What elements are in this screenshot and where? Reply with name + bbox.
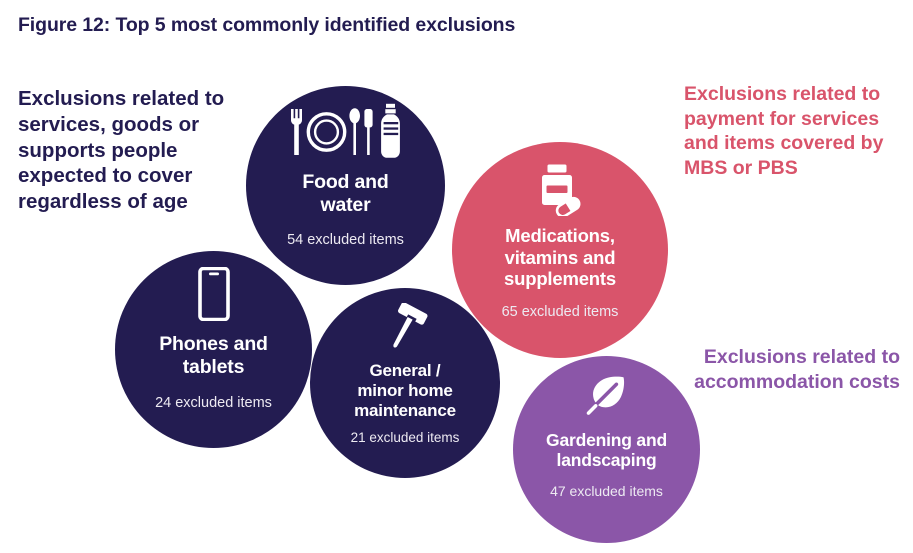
bubble-count: 24 excluded items <box>155 396 272 412</box>
annotation-services-goods-supports: Exclusions related to services, goods or… <box>18 86 250 215</box>
bubble-phones-and-tablets[interactable]: Phones and tablets 24 excluded items <box>115 251 312 448</box>
food-and-water-icon <box>288 103 404 159</box>
bubble-count: 54 excluded items <box>287 233 404 249</box>
bubble-general-minor-home-maintenance[interactable]: General / minor home maintenance 21 excl… <box>310 288 500 478</box>
pill-bottle-icon <box>535 164 585 216</box>
hammer-icon <box>380 303 430 353</box>
bubble-count: 21 excluded items <box>351 431 460 446</box>
page-title: Figure 12: Top 5 most commonly identifie… <box>18 14 718 37</box>
bubble-label-line: water <box>302 194 388 217</box>
bubble-label-line: supplements <box>504 268 616 290</box>
bubble-label-line: minor home <box>354 381 456 401</box>
bubble-label: Food and water <box>302 171 388 217</box>
annotation-accommodation-costs: Exclusions related to accommodation cost… <box>678 345 900 394</box>
bubble-label: Phones and tablets <box>159 333 268 379</box>
bubble-label-line: landscaping <box>546 450 667 470</box>
figure-canvas: Figure 12: Top 5 most commonly identifie… <box>0 0 913 553</box>
bubble-label-line: Food and <box>302 171 388 194</box>
bubble-food-and-water[interactable]: Food and water 54 excluded items <box>246 86 445 285</box>
bubble-label-line: Medications, <box>504 225 616 247</box>
smartphone-icon <box>194 267 234 321</box>
annotation-mbs-pbs-payment: Exclusions related to payment for servic… <box>684 82 900 180</box>
leaf-icon <box>585 374 629 420</box>
bubble-label-line: Gardening and <box>546 430 667 450</box>
bubble-label-line: maintenance <box>354 401 456 421</box>
bubble-label-line: Phones and <box>159 333 268 356</box>
bubble-count: 65 excluded items <box>502 305 619 321</box>
bubble-label: General / minor home maintenance <box>354 361 456 421</box>
bubble-gardening-and-landscaping[interactable]: Gardening and landscaping 47 excluded it… <box>513 356 700 543</box>
bubble-label-line: General / <box>354 361 456 381</box>
bubble-label-line: tablets <box>159 356 268 379</box>
bubble-label-line: vitamins and <box>504 247 616 269</box>
bubble-count: 47 excluded items <box>550 484 663 499</box>
bubble-medications-vitamins-supplements[interactable]: Medications, vitamins and supplements 65… <box>452 142 668 358</box>
bubble-label: Gardening and landscaping <box>546 430 667 471</box>
bubble-label: Medications, vitamins and supplements <box>504 225 616 290</box>
